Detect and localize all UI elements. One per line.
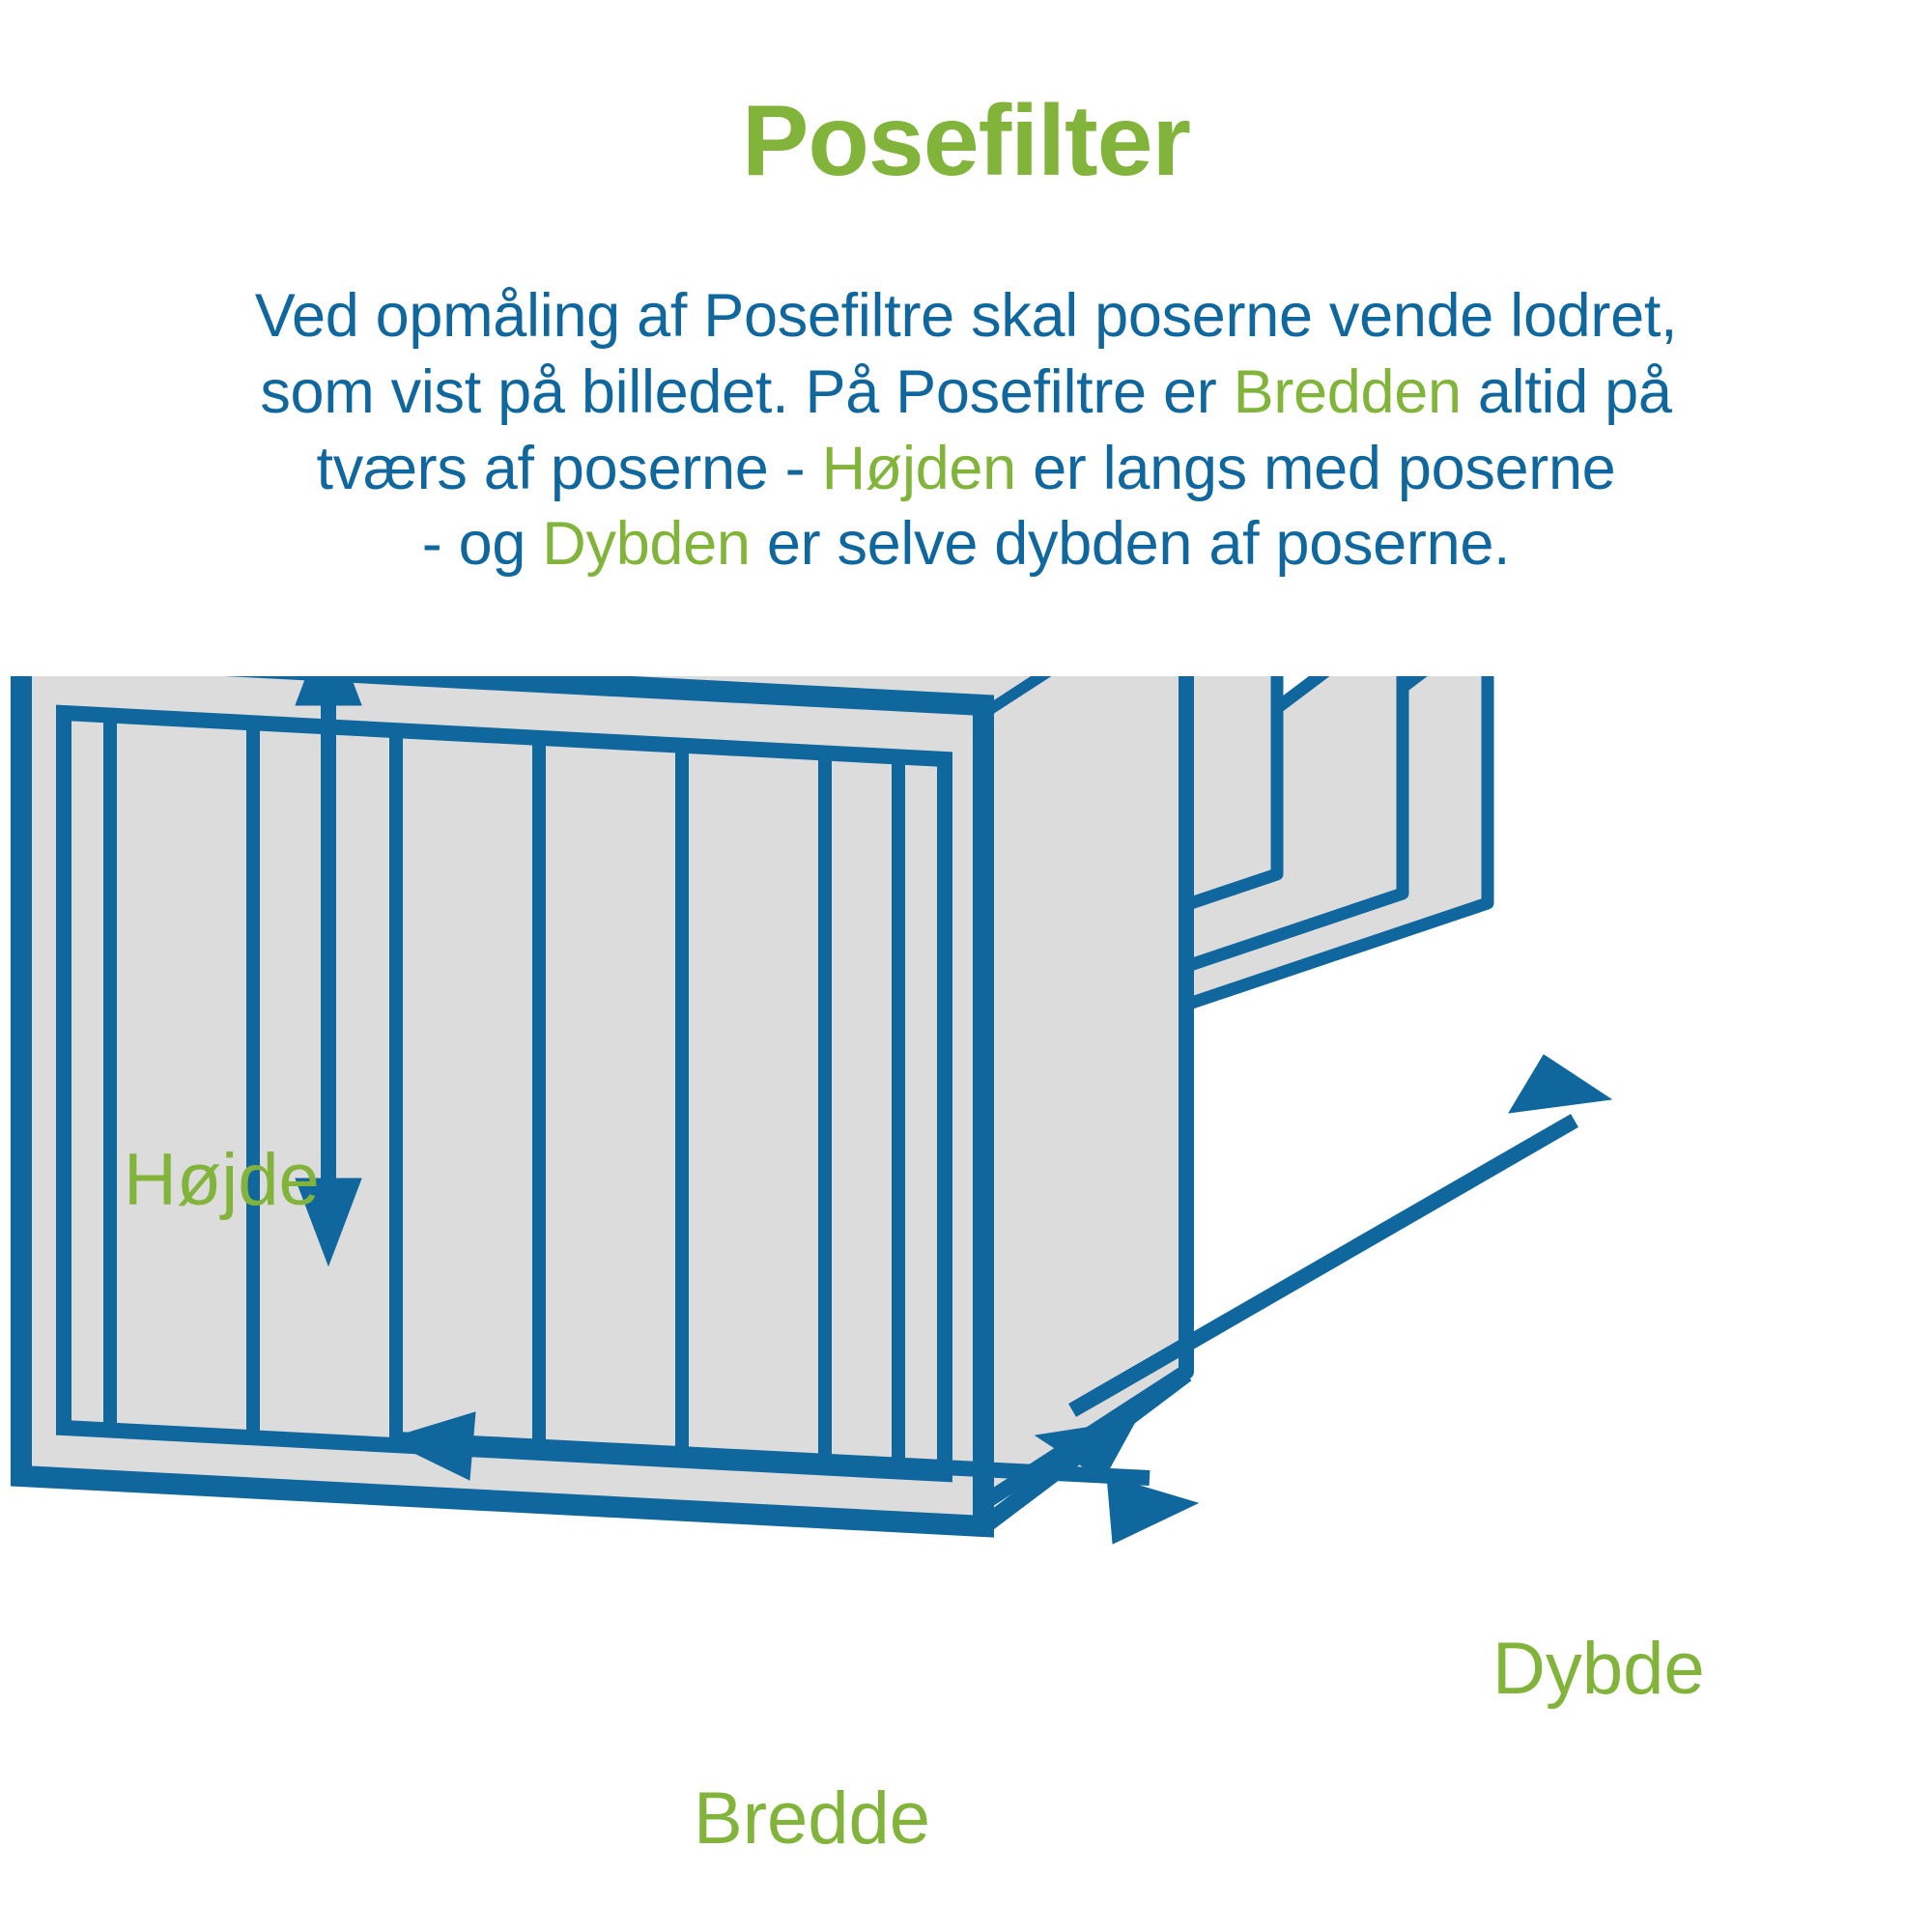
intro-line-4-part-b: er selve dybden af poserne. (751, 510, 1511, 578)
bag-filter-diagram (0, 676, 1932, 1932)
intro-line-2-part-a: som vist på billedet. På Posefiltre er (260, 358, 1233, 426)
dimension-label-height: Højde (124, 1144, 320, 1217)
dimension-label-depth: Dybde (1492, 1633, 1705, 1706)
intro-line-4-part-a: - og (422, 510, 543, 578)
poster-canvas: Posefilter Ved opmåling af Posefiltre sk… (0, 0, 1932, 1932)
page-title: Posefilter (0, 85, 1932, 197)
intro-line-1: Ved opmåling af Posefiltre skal poserne … (255, 282, 1678, 350)
side-face-right (978, 676, 1186, 1507)
intro-paragraph: Ved opmåling af Posefiltre skal poserne … (87, 278, 1845, 582)
intro-line-3-part-a: tværs af poserne - (317, 435, 822, 502)
highlight-dybden: Dybden (542, 510, 750, 578)
intro-line-2-part-b: altid på (1462, 358, 1672, 426)
intro-line-3-part-b: er langs med poserne (1016, 435, 1616, 502)
frame-inner (64, 713, 945, 1474)
filter-body (21, 676, 1488, 1526)
highlight-bredden: Bredden (1234, 358, 1462, 426)
bag-filter-svg (0, 676, 1932, 1932)
highlight-hojden: Højden (822, 435, 1016, 502)
dimension-label-width: Bredde (694, 1782, 930, 1856)
